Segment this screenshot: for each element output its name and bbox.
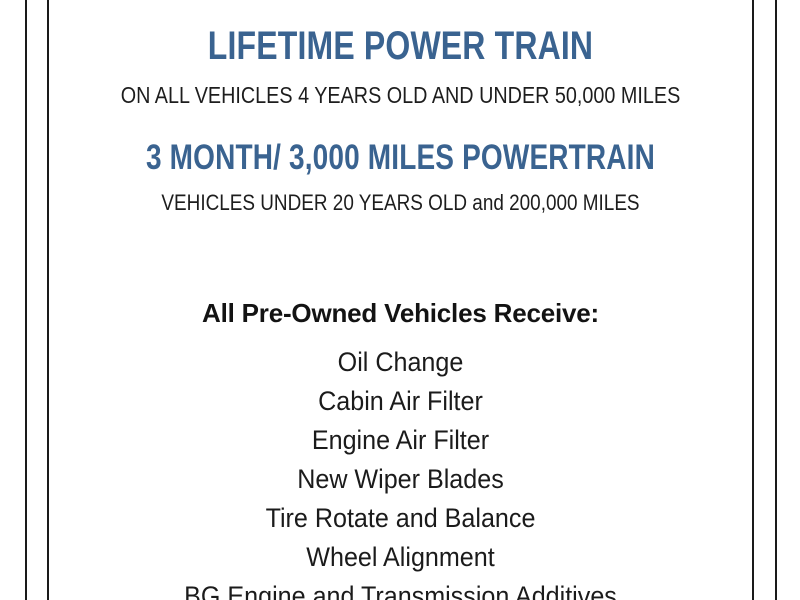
warranty-headline: 3 MONTH/ 3,000 MILES POWERTRAIN [119, 140, 681, 175]
services-section: All Pre-Owned Vehicles Receive: Oil Chan… [49, 300, 752, 600]
service-list-item: Cabin Air Filter [74, 382, 728, 421]
warranty-block-3month-powertrain: 3 MONTH/ 3,000 MILES POWERTRAIN VEHICLES… [49, 140, 752, 214]
service-list-item: Engine Air Filter [74, 421, 728, 460]
frame-rule-left-outer [25, 0, 27, 600]
services-list: Oil ChangeCabin Air FilterEngine Air Fil… [49, 343, 752, 600]
services-heading: All Pre-Owned Vehicles Receive: [49, 300, 752, 326]
service-list-item: New Wiper Blades [74, 460, 728, 499]
frame-rule-right-outer [775, 0, 777, 600]
service-list-item: BG Engine and Transmission Additives [74, 577, 728, 600]
warranty-headline: LIFETIME POWER TRAIN [119, 26, 681, 66]
service-list-item: Tire Rotate and Balance [74, 499, 728, 538]
warranty-block-lifetime-powertrain: LIFETIME POWER TRAIN ON ALL VEHICLES 4 Y… [49, 26, 752, 107]
poster-content: LIFETIME POWER TRAIN ON ALL VEHICLES 4 Y… [49, 0, 752, 600]
frame-rule-right-inner [752, 0, 754, 600]
warranty-subline: VEHICLES UNDER 20 YEARS OLD and 200,000 … [98, 192, 703, 214]
warranty-subline: ON ALL VEHICLES 4 YEARS OLD AND UNDER 50… [98, 84, 703, 107]
service-list-item: Wheel Alignment [74, 538, 728, 577]
service-list-item: Oil Change [74, 343, 728, 382]
